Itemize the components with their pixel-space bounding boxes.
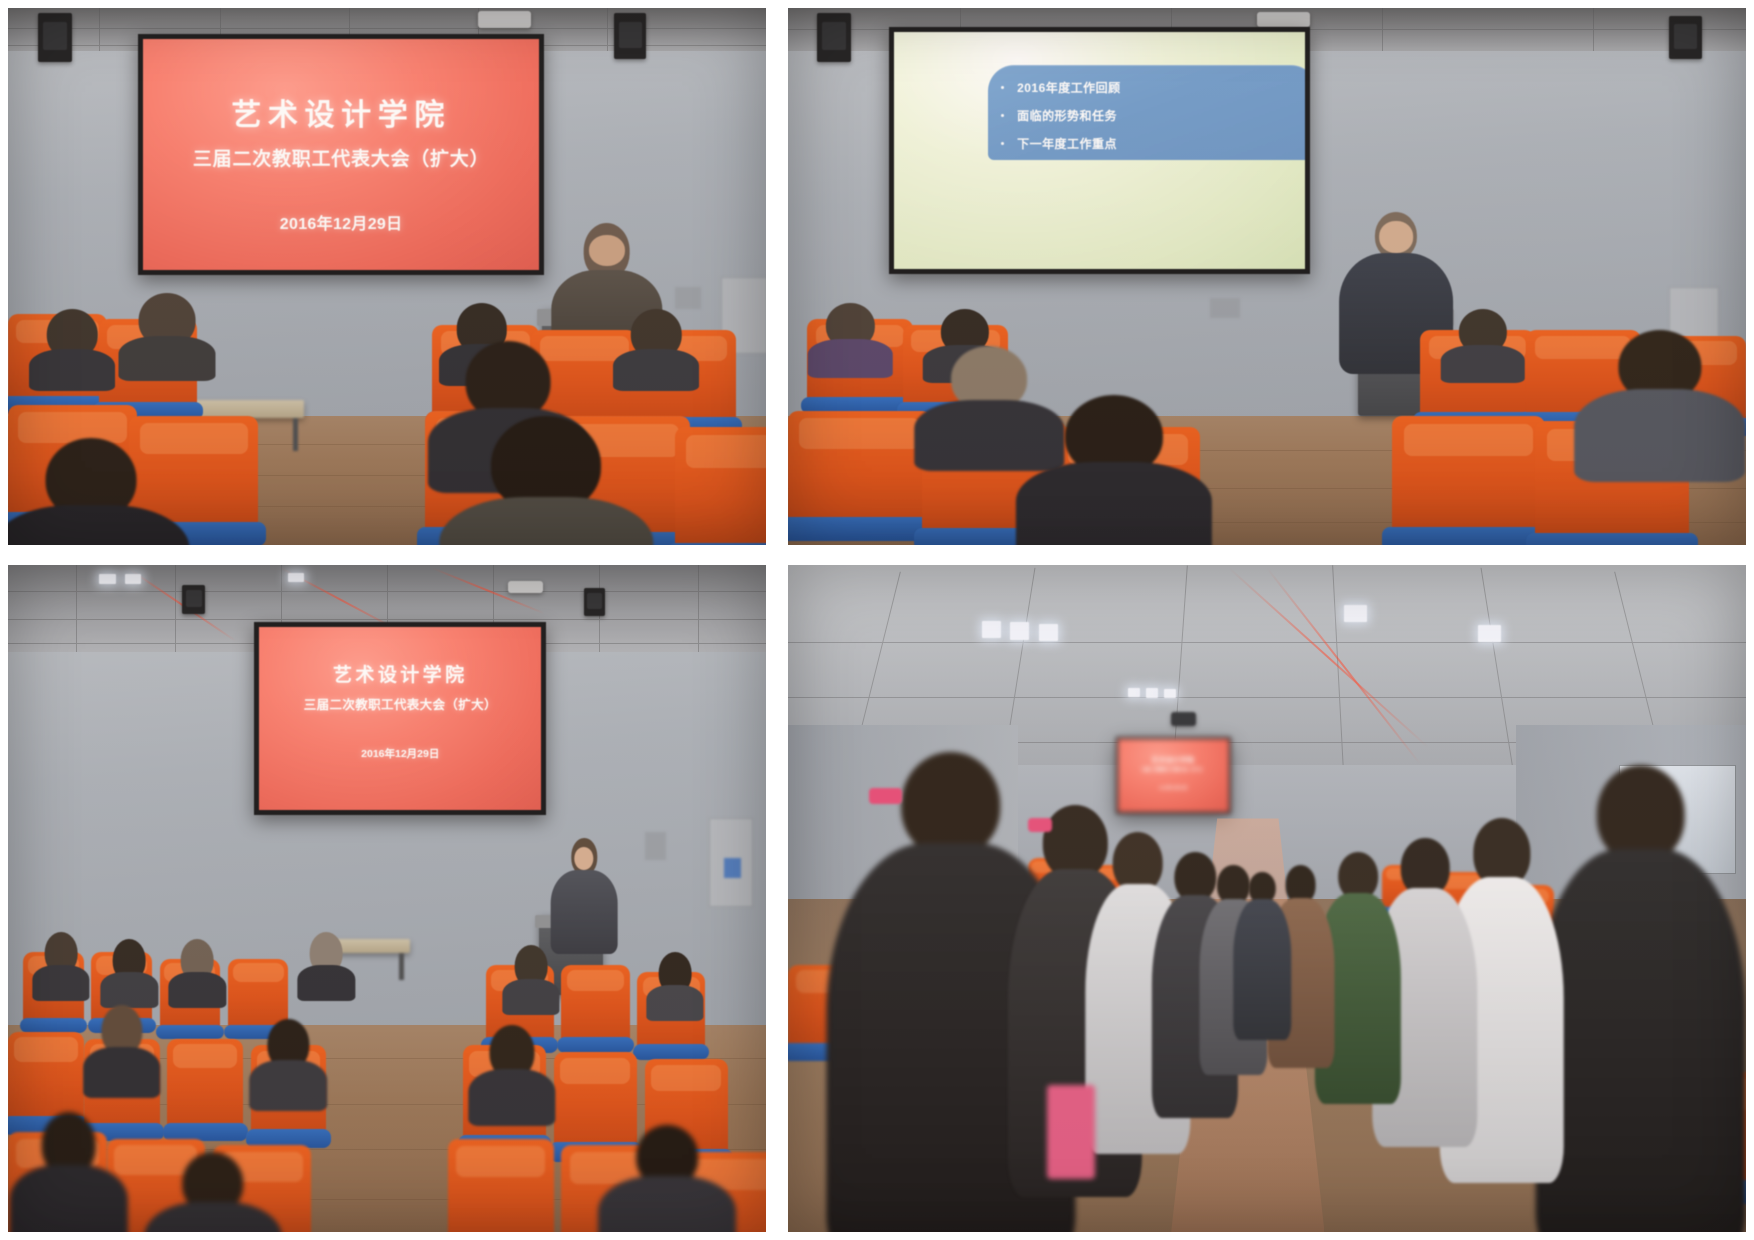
ceiling-lamp — [125, 574, 142, 583]
slide-heading: 艺术设计学院 — [231, 90, 451, 134]
agenda-bullet-label: 2016年度工作回顾 — [1017, 79, 1121, 96]
audience-member — [38, 309, 106, 379]
audience-member — [622, 309, 690, 379]
ceiling-speaker-icon — [817, 13, 851, 61]
slide-subheading: 三届二次教职工代表大会（扩大） — [304, 694, 497, 713]
slide-heading: 艺术设计学院 — [333, 660, 468, 687]
audience-member-foreground — [16, 438, 168, 545]
ceiling-speaker-icon — [182, 585, 205, 614]
audience-member-foreground — [614, 1125, 720, 1232]
agenda-bullet: 下一年度工作重点 — [1001, 135, 1289, 152]
slide-subheading: 三届二次教职工代表大会（扩大） — [1141, 767, 1205, 773]
bottom-left-photo: 艺术设计学院 三届二次教职工代表大会（扩大） 2016年12月29日 — [8, 565, 766, 1232]
slide-date: 2016年12月29日 — [1159, 786, 1187, 791]
projection-screen: 2016年度工作回顾 面临的形势和任务 下一年度工作重点 — [889, 27, 1311, 274]
ceiling-lamp — [1478, 625, 1501, 642]
projector-icon — [478, 11, 531, 28]
title-slide: 艺术设计学院 三届二次教职工代表大会（扩大） 2016年12月29日 — [259, 627, 541, 810]
audience-member-foreground — [463, 416, 630, 545]
ceiling-lamp — [1128, 688, 1139, 697]
hair-accessory — [869, 788, 902, 804]
wall-socket — [675, 287, 701, 308]
audience-member-foreground — [23, 1112, 114, 1232]
ceiling-lamp — [288, 573, 303, 582]
audience-member — [817, 303, 884, 367]
audience-member — [91, 1005, 152, 1085]
bullet-dot-icon — [1001, 86, 1004, 89]
audience-member-foreground — [1593, 330, 1727, 459]
audience-member — [652, 952, 697, 1012]
top-left-photo: 艺术设计学院 三届二次教职工代表大会（扩大） 2016年12月29日 — [8, 8, 766, 545]
slide-date: 2016年12月29日 — [280, 210, 403, 234]
ceiling-lamp — [1344, 605, 1367, 622]
slide-date: 2016年12月29日 — [361, 746, 439, 761]
hair-accessory — [1028, 818, 1053, 831]
ceiling-speaker-icon — [38, 13, 71, 61]
agenda-bullet: 面临的形势和任务 — [1001, 107, 1289, 124]
presenter — [554, 838, 615, 945]
ceiling-lamp — [1010, 622, 1029, 639]
ceiling-speaker-icon — [614, 13, 646, 59]
attendee — [1233, 872, 1290, 1032]
wall-socket — [645, 832, 667, 861]
projector-icon — [1257, 12, 1310, 27]
agenda-bullet: 2016年度工作回顾 — [1001, 79, 1289, 96]
audience-member — [304, 932, 349, 992]
ceiling-lamp — [982, 621, 1001, 638]
bullet-dot-icon — [1001, 142, 1004, 145]
ceiling-lamp — [1146, 688, 1157, 697]
title-slide: 艺术设计学院 三届二次教职工代表大会（扩大） 2016年12月29日 — [1118, 739, 1229, 812]
audience-member — [258, 1019, 319, 1099]
bottom-right-photo: 艺术设计学院 三届二次教职工代表大会（扩大） 2016年12月29日 — [788, 565, 1746, 1232]
audience-member — [508, 945, 553, 1005]
bullet-dot-icon — [1001, 114, 1004, 117]
wall-socket — [1210, 298, 1241, 318]
projection-screen: 艺术设计学院 三届二次教职工代表大会（扩大） 2016年12月29日 — [254, 622, 546, 815]
agenda-bullet-label: 下一年度工作重点 — [1017, 135, 1117, 152]
audience-member — [478, 1025, 546, 1112]
ceiling-lamp — [99, 574, 116, 583]
projection-screen: 艺术设计学院 三届二次教职工代表大会（扩大） 2016年12月29日 — [138, 34, 544, 276]
slide-heading: 艺术设计学院 — [1152, 754, 1195, 764]
projection-screen: 艺术设计学院 三届二次教职工代表大会（扩大） 2016年12月29日 — [1116, 737, 1231, 814]
agenda-bullet-label: 面临的形势和任务 — [1017, 107, 1117, 124]
title-slide: 艺术设计学院 三届二次教职工代表大会（扩大） 2016年12月29日 — [143, 39, 539, 271]
wall-label — [724, 858, 741, 878]
photo-collage: 艺术设计学院 三届二次教职工代表大会（扩大） 2016年12月29日 — [0, 0, 1754, 1240]
ceiling-lamp — [1164, 689, 1175, 698]
audience-member — [1449, 309, 1516, 373]
slide-subheading: 三届二次教职工代表大会（扩大） — [193, 144, 489, 171]
ceiling-speaker-icon — [1669, 16, 1702, 59]
projector-icon — [508, 581, 543, 593]
audience-member-foreground — [1037, 395, 1190, 535]
attendee-foreground — [1535, 765, 1746, 1232]
audience-member-foreground — [932, 346, 1047, 453]
agenda-slide: 2016年度工作回顾 面临的形势和任务 下一年度工作重点 — [894, 32, 1306, 269]
audience-member — [129, 293, 205, 368]
audience-member-foreground — [160, 1152, 266, 1232]
audience-member — [38, 932, 83, 992]
audience-member — [107, 939, 152, 999]
ceiling-speaker-icon — [584, 588, 605, 616]
pink-bag — [1047, 1085, 1095, 1178]
ceiling-lamp — [1039, 624, 1058, 641]
top-right-photo: 2016年度工作回顾 面临的形势和任务 下一年度工作重点 — [788, 8, 1746, 545]
audience-member — [175, 939, 220, 999]
projector-icon — [1171, 712, 1196, 727]
